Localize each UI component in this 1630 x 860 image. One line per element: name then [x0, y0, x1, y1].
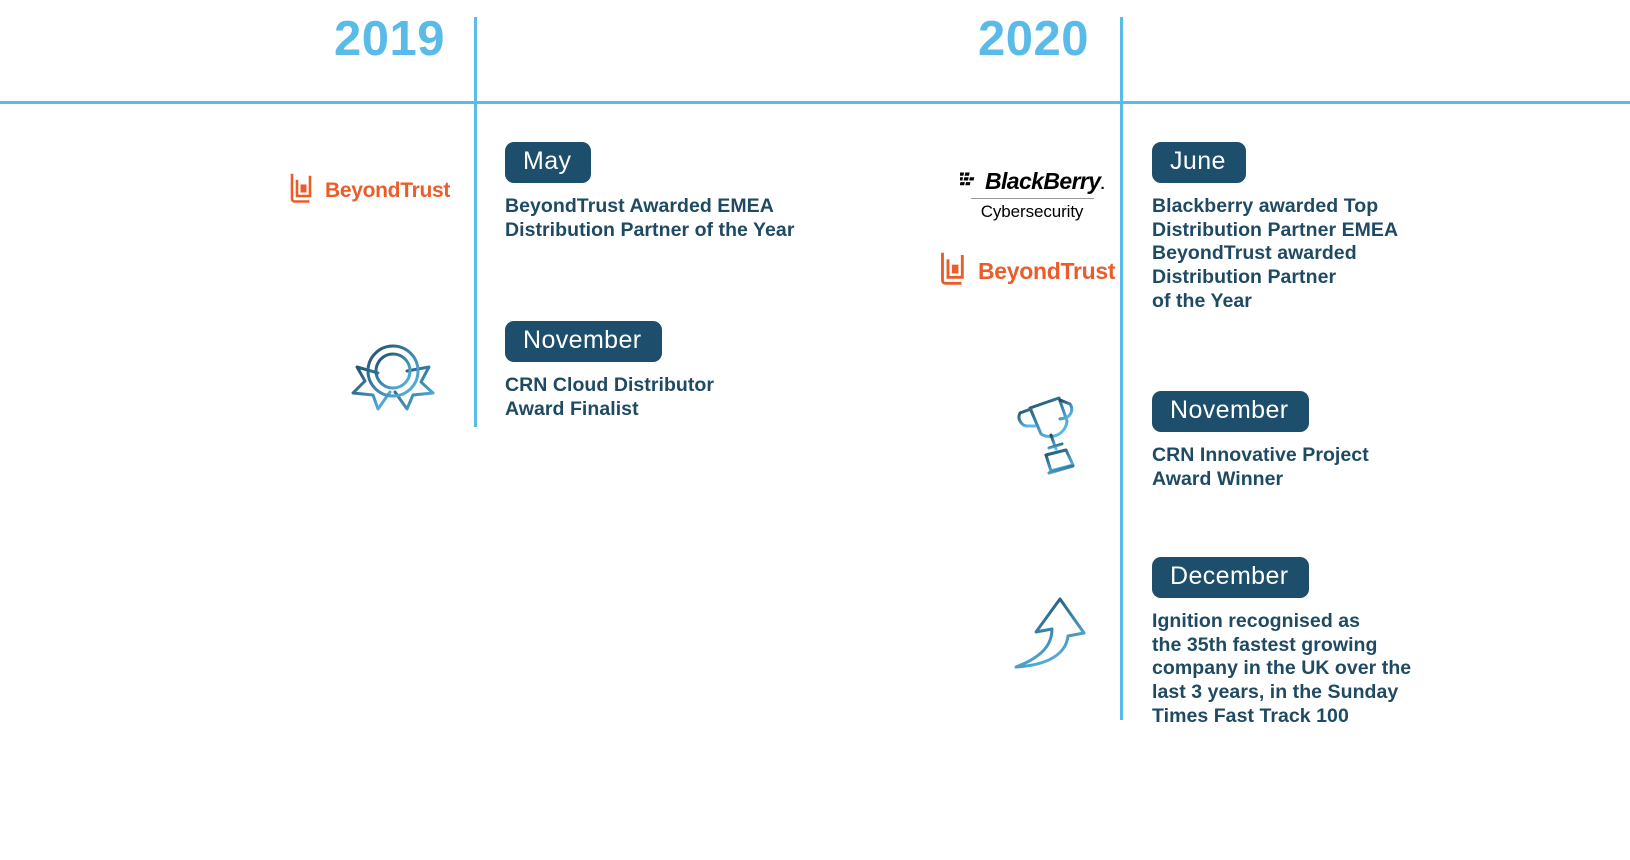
beyondtrust-wordmark: BeyondTrust: [978, 260, 1115, 283]
entry-text-line: Blackberry awarded Top: [1152, 195, 1398, 219]
blackberry-subtitle: Cybersecurity: [981, 203, 1084, 220]
entry-text-line: last 3 years, in the Sunday: [1152, 681, 1411, 705]
beyondtrust-logo-2020: BeyondTrust: [938, 252, 1115, 290]
timeline-divider-2020: [1120, 17, 1123, 720]
entry-text-line: Distribution Partner of the Year: [505, 219, 794, 243]
entry-description-november-2019: CRN Cloud Distributor Award Finalist: [505, 374, 714, 421]
month-badge-november-2020: November: [1152, 391, 1309, 432]
entry-text-line: Times Fast Track 100: [1152, 705, 1411, 729]
entry-description-may: BeyondTrust Awarded EMEA Distribution Pa…: [505, 195, 794, 242]
trophy-icon: [1010, 395, 1090, 486]
entry-description-november-2020: CRN Innovative Project Award Winner: [1152, 444, 1369, 491]
timeline-entry-november-2020: November CRN Innovative Project Award Wi…: [1152, 391, 1369, 491]
entry-text-line: Ignition recognised as: [1152, 610, 1411, 634]
timeline-entry-june-2020: June Blackberry awarded Top Distribution…: [1152, 142, 1398, 313]
entry-text-line: company in the UK over the: [1152, 657, 1411, 681]
entry-text-line: CRN Innovative Project: [1152, 444, 1369, 468]
entry-description-december: Ignition recognised as the 35th fastest …: [1152, 610, 1411, 728]
entry-text-line: BeyondTrust awarded: [1152, 242, 1398, 266]
entry-text-line: of the Year: [1152, 290, 1398, 314]
blackberry-logo: BlackBerry. Cybersecurity: [960, 170, 1104, 220]
beyondtrust-wordmark: BeyondTrust: [325, 180, 450, 201]
growth-arrow-icon: [1008, 595, 1092, 680]
entry-description-june: Blackberry awarded Top Distribution Part…: [1152, 195, 1398, 313]
blackberry-wordmark: BlackBerry.: [985, 170, 1104, 193]
timeline-entry-november-2019: November CRN Cloud Distributor Award Fin…: [505, 321, 714, 421]
beyondtrust-mark-icon: [288, 173, 316, 208]
entry-text-line: Distribution Partner: [1152, 266, 1398, 290]
entry-text-line: Award Winner: [1152, 468, 1369, 492]
timeline-entry-december-2020: December Ignition recognised as the 35th…: [1152, 557, 1411, 728]
month-badge-november-2019: November: [505, 321, 662, 362]
award-ribbon-icon: [345, 337, 443, 422]
month-badge-december: December: [1152, 557, 1309, 598]
blackberry-trademark-dot: .: [1100, 176, 1104, 193]
month-badge-may: May: [505, 142, 591, 183]
blackberry-divider: [971, 198, 1094, 199]
entry-text-line: Distribution Partner EMEA: [1152, 219, 1398, 243]
entry-text-line: the 35th fastest growing: [1152, 634, 1411, 658]
blackberry-mark-icon: [960, 171, 979, 193]
timeline-horizontal-rule: [0, 101, 1630, 104]
beyondtrust-logo-2019: BeyondTrust: [288, 173, 450, 208]
entry-text-line: BeyondTrust Awarded EMEA: [505, 195, 794, 219]
beyondtrust-mark-icon: [938, 252, 969, 290]
entry-text-line: CRN Cloud Distributor: [505, 374, 714, 398]
timeline-divider-2019: [474, 17, 477, 427]
entry-text-line: Award Finalist: [505, 398, 714, 422]
month-badge-june: June: [1152, 142, 1246, 183]
year-label-2019: 2019: [334, 15, 445, 64]
year-label-2020: 2020: [978, 15, 1089, 64]
blackberry-wordmark-text: BlackBerry: [985, 168, 1100, 194]
timeline-entry-may-2019: May BeyondTrust Awarded EMEA Distributio…: [505, 142, 794, 242]
